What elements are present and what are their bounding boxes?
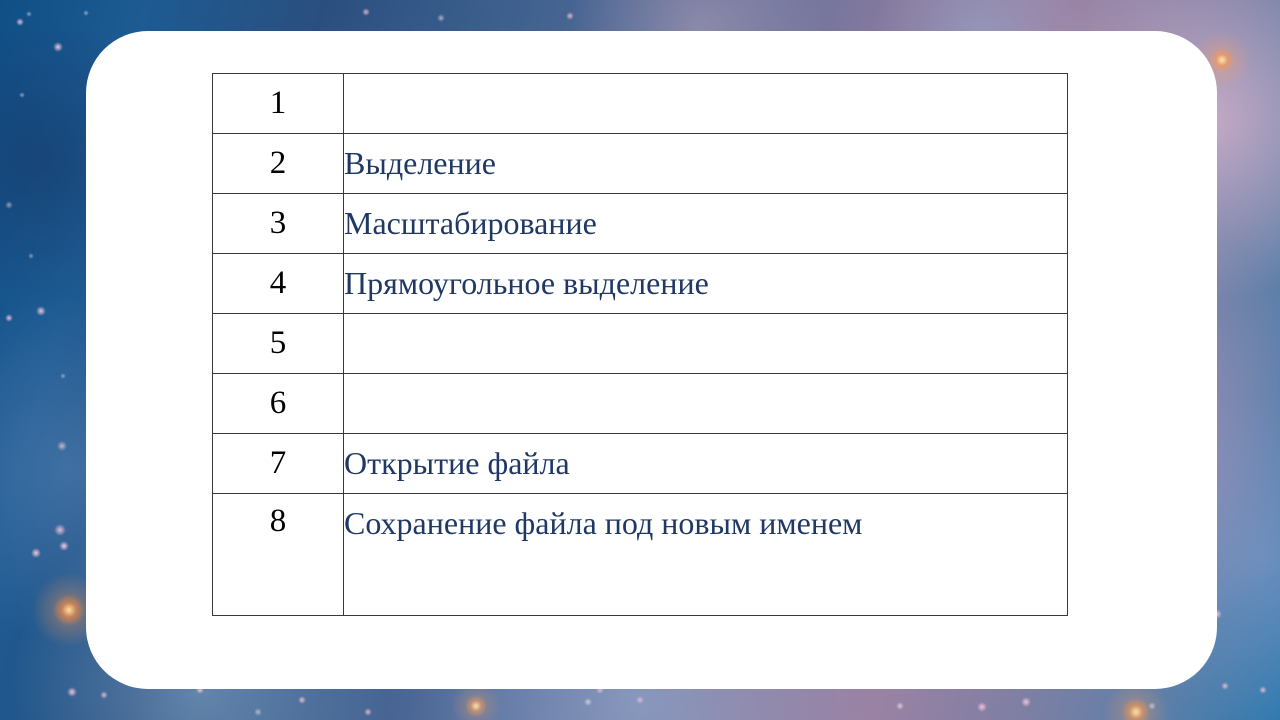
table-row[interactable]: 4 Прямоугольное выделение xyxy=(213,254,1068,314)
row-number: 5 xyxy=(213,314,344,374)
row-number: 2 xyxy=(213,134,344,194)
table-row[interactable]: 6 xyxy=(213,374,1068,434)
row-label[interactable] xyxy=(344,314,1068,374)
row-label[interactable]: Прямоугольное выделение xyxy=(344,254,1068,314)
row-number: 4 xyxy=(213,254,344,314)
table-row[interactable]: 2 Выделение xyxy=(213,134,1068,194)
row-label[interactable]: Сохранение файла под новым именем xyxy=(344,494,1068,616)
table-row[interactable]: 5 xyxy=(213,314,1068,374)
row-number: 8 xyxy=(213,494,344,616)
numbered-list-table: 1 2 Выделение 3 Масштабирование 4 Прямоу… xyxy=(212,73,1068,616)
row-number: 1 xyxy=(213,74,344,134)
table-container: 1 2 Выделение 3 Масштабирование 4 Прямоу… xyxy=(212,73,1068,616)
row-number: 3 xyxy=(213,194,344,254)
row-label[interactable]: Масштабирование xyxy=(344,194,1068,254)
row-label[interactable] xyxy=(344,374,1068,434)
row-label[interactable]: Выделение xyxy=(344,134,1068,194)
row-number: 6 xyxy=(213,374,344,434)
table-row[interactable]: 8 Сохранение файла под новым именем xyxy=(213,494,1068,616)
row-label[interactable] xyxy=(344,74,1068,134)
row-number: 7 xyxy=(213,434,344,494)
table-row[interactable]: 7 Открытие файла xyxy=(213,434,1068,494)
row-label[interactable]: Открытие файла xyxy=(344,434,1068,494)
table-row[interactable]: 1 xyxy=(213,74,1068,134)
slide-canvas: 1 2 Выделение 3 Масштабирование 4 Прямоу… xyxy=(0,0,1280,720)
table-row[interactable]: 3 Масштабирование xyxy=(213,194,1068,254)
